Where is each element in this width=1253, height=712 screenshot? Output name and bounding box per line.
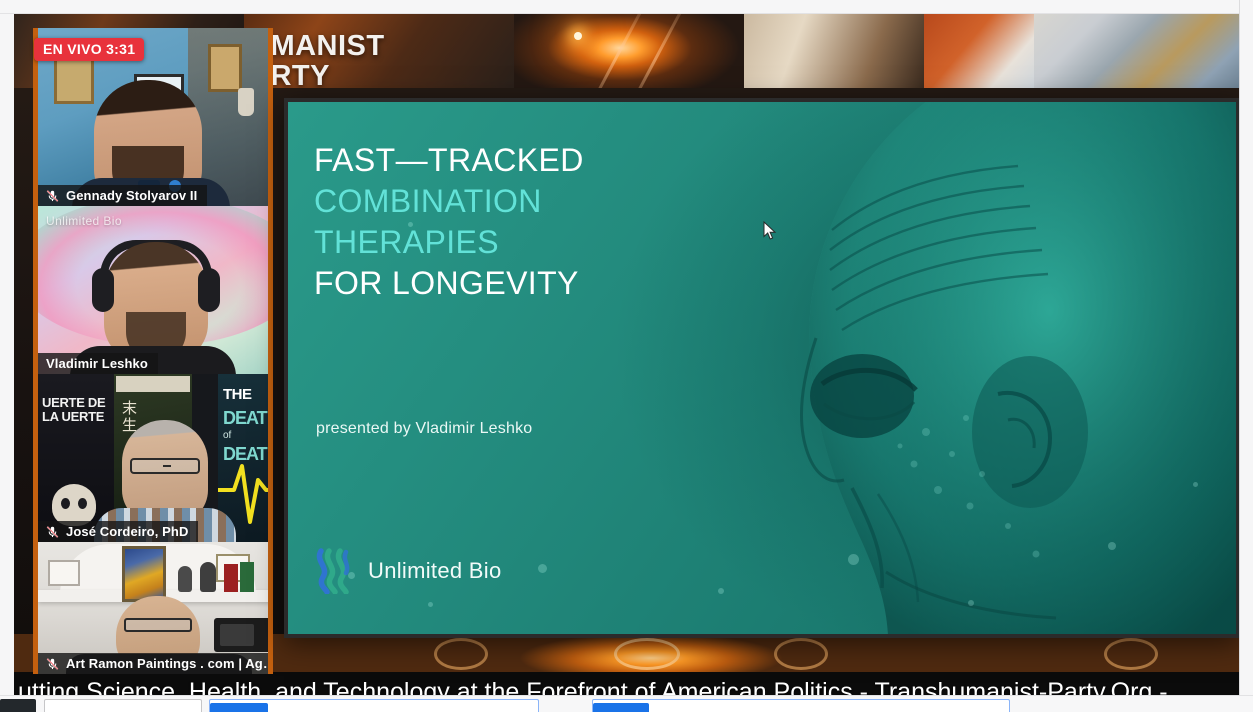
toolbar-accent-one[interactable]	[210, 703, 268, 712]
ring-graphic	[774, 638, 828, 670]
toolbar-panel-two[interactable]	[592, 699, 1010, 712]
book-poster-credit	[116, 376, 190, 392]
slide-title-line-2: COMBINATION	[314, 181, 774, 222]
book-poster-line: THE	[223, 386, 252, 403]
mic-muted-icon	[46, 189, 59, 203]
live-status-badge: EN VIVO 3:31	[34, 38, 144, 61]
mic-muted-icon	[46, 657, 59, 671]
banner-segment	[1034, 14, 1239, 88]
bokeh-speck	[1108, 542, 1116, 550]
slide-title-line-3: THERAPIES	[314, 222, 774, 263]
ring-graphic	[434, 638, 488, 670]
participant-name-label: Vladimir Leshko	[38, 353, 158, 374]
slide-logo-text: Unlimited Bio	[368, 558, 502, 584]
participant-tile[interactable]: UERTE DE LA UERTE 末生 THE DEAT of DEAT	[33, 374, 273, 542]
participant-name: Vladimir Leshko	[46, 356, 148, 371]
toolbar-text-input[interactable]	[44, 699, 202, 712]
shared-presentation-slide[interactable]: FAST—TRACKED COMBINATION THERAPIES FOR L…	[284, 98, 1239, 638]
participant-name: Art Ramon Paintings . com | Ag…	[66, 656, 273, 671]
bokeh-speck	[428, 602, 433, 607]
news-ticker: utting Science, Health, and Technology a…	[14, 672, 1239, 696]
slide-canvas: FAST—TRACKED COMBINATION THERAPIES FOR L…	[288, 102, 1236, 634]
bokeh-speck	[538, 564, 547, 573]
participant-tile[interactable]: Unlimited Bio Vladimir Leshko	[33, 206, 273, 374]
ticker-text: utting Science, Health, and Technology a…	[18, 678, 1168, 697]
participant-name: Gennady Stolyarov II	[66, 188, 197, 203]
participant-name-label: José Cordeiro, PhD	[38, 521, 198, 542]
participant-name-label: Gennady Stolyarov II	[38, 185, 207, 206]
livestream-video-area[interactable]: UMANIST ARTY utting Science, Health, and…	[14, 14, 1239, 696]
book-poster-line: of	[223, 430, 231, 441]
participant-name-label: Art Ramon Paintings . com | Ag…	[38, 653, 270, 674]
banner-segment	[744, 14, 924, 88]
participant-name: José Cordeiro, PhD	[66, 524, 188, 539]
slide-subtitle: presented by Vladimir Leshko	[316, 420, 532, 438]
mouse-cursor	[763, 221, 777, 241]
mic-muted-icon	[46, 525, 59, 539]
ring-graphic	[614, 638, 680, 670]
toolbar-dark-chip[interactable]	[0, 699, 36, 712]
participant-tile[interactable]: Art Ramon Paintings . com | Ag…	[33, 542, 273, 674]
window-top-edge	[0, 0, 1253, 14]
bokeh-speck	[968, 600, 974, 606]
banner-segment	[514, 14, 744, 88]
bokeh-speck	[718, 588, 724, 594]
slide-logo: Unlimited Bio	[312, 548, 502, 594]
lens-flare-graphic	[574, 32, 582, 40]
ring-graphic	[1104, 638, 1158, 670]
participant-video: Unlimited Bio	[38, 206, 268, 374]
book-poster-line: DEAT	[223, 408, 267, 429]
slide-title-line-4: FOR LONGEVITY	[314, 263, 774, 304]
bokeh-speck	[1193, 482, 1198, 487]
window-right-edge	[1239, 0, 1253, 712]
book-poster-title: UERTE DE LA UERTE	[42, 396, 110, 423]
banner-segment	[924, 14, 1034, 88]
book-poster-cjk: 末生	[122, 400, 137, 433]
dna-helix-logo-icon	[312, 548, 354, 594]
toolbar-accent-two[interactable]	[593, 703, 649, 712]
video-watermark: Unlimited Bio	[46, 214, 122, 228]
bokeh-speck	[848, 554, 859, 565]
slide-title: FAST—TRACKED COMBINATION THERAPIES FOR L…	[314, 140, 774, 304]
bottom-partial-toolbar	[0, 695, 1253, 712]
participant-tile-column: Gennady Stolyarov II Unlimited Bio Vladi…	[33, 14, 273, 674]
screen: UMANIST ARTY utting Science, Health, and…	[0, 0, 1253, 712]
window-left-edge	[0, 0, 14, 712]
slide-title-line-1: FAST—TRACKED	[314, 140, 774, 181]
participant-video: UERTE DE LA UERTE 末生 THE DEAT of DEAT	[38, 374, 268, 542]
